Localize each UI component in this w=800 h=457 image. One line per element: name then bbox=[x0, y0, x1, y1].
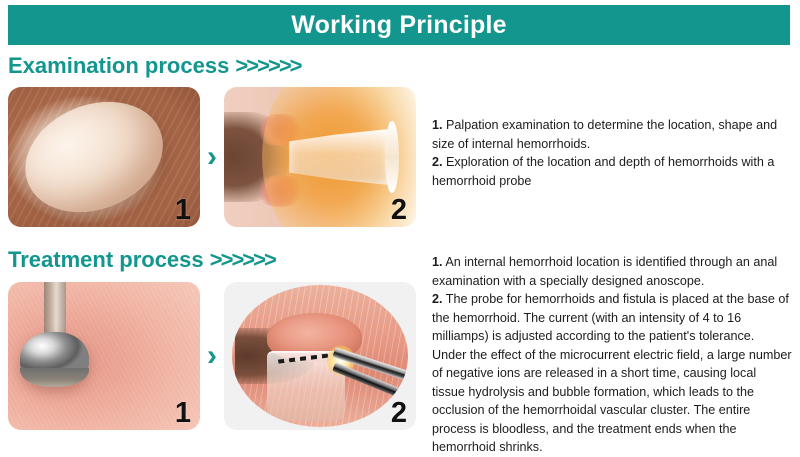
examination-description-item-2-number: 2. bbox=[432, 155, 443, 169]
treatment-description-item-2-text: The probe for hemorrhoids and fistula is… bbox=[432, 292, 792, 454]
rectal-lumen-shape bbox=[232, 285, 409, 427]
treatment-step-2-number: 2 bbox=[391, 399, 407, 428]
anoscope-rim-shape bbox=[385, 121, 398, 194]
internal-hemorrhoid-endoscopic-view-image bbox=[8, 87, 200, 227]
page-title: Working Principle bbox=[291, 13, 506, 38]
treatment-description-item-2: 2. The probe for hemorrhoids and fistula… bbox=[432, 290, 792, 457]
treatment-description-item-1: 1. An internal hemorrhoid location is id… bbox=[432, 253, 792, 290]
examination-step-arrow-icon: › bbox=[207, 142, 217, 172]
examination-step-2-number: 2 bbox=[391, 196, 407, 225]
hemorrhoid-probe-tip-on-tissue-image bbox=[8, 282, 200, 430]
examination-step-1-panel: 1 bbox=[8, 87, 200, 227]
section-heading-examination-label: Examination process bbox=[8, 53, 235, 78]
treatment-description-item-1-number: 1. bbox=[432, 255, 443, 269]
examination-description-item-1-text: Palpation examination to determine the l… bbox=[432, 118, 777, 151]
microcurrent-probe-at-hemorrhoid-base-image bbox=[224, 282, 416, 430]
page-header-bar: Working Principle bbox=[8, 5, 790, 45]
treatment-description-item-1-text: An internal hemorrhoid location is ident… bbox=[432, 255, 777, 288]
examination-step-1-number: 1 bbox=[175, 196, 191, 225]
anoscope-insertion-illustration-image bbox=[224, 87, 416, 227]
examination-description-item-2-text: Exploration of the location and depth of… bbox=[432, 155, 774, 188]
treatment-description: 1. An internal hemorrhoid location is id… bbox=[432, 253, 792, 457]
examination-panel-row: 1 › 2 bbox=[8, 87, 416, 227]
section-heading-treatment-chevrons-icon: >>>>>> bbox=[210, 247, 275, 272]
examination-description: 1. Palpation examination to determine th… bbox=[432, 116, 792, 190]
treatment-step-arrow-icon: › bbox=[207, 341, 217, 371]
treatment-step-1-panel: 1 bbox=[8, 282, 200, 430]
treatment-panel-row: 1 › 2 bbox=[8, 282, 416, 430]
examination-step-2-panel: 2 bbox=[224, 87, 416, 227]
section-heading-examination: Examination process >>>>>> bbox=[8, 55, 301, 77]
hemorrhoid-mass-shape bbox=[9, 87, 180, 227]
examination-description-item-2: 2. Exploration of the location and depth… bbox=[432, 153, 792, 190]
treatment-description-item-2-number: 2. bbox=[432, 292, 443, 306]
treatment-step-2-panel: 2 bbox=[224, 282, 416, 430]
examination-description-item-1-number: 1. bbox=[432, 118, 443, 132]
treatment-step-1-number: 1 bbox=[175, 399, 191, 428]
section-heading-treatment-label: Treatment process bbox=[8, 247, 210, 272]
examination-description-item-1: 1. Palpation examination to determine th… bbox=[432, 116, 792, 153]
probe-tip-band-shape bbox=[20, 368, 89, 387]
section-heading-treatment: Treatment process >>>>>> bbox=[8, 249, 275, 271]
section-heading-examination-chevrons-icon: >>>>>> bbox=[235, 53, 300, 78]
